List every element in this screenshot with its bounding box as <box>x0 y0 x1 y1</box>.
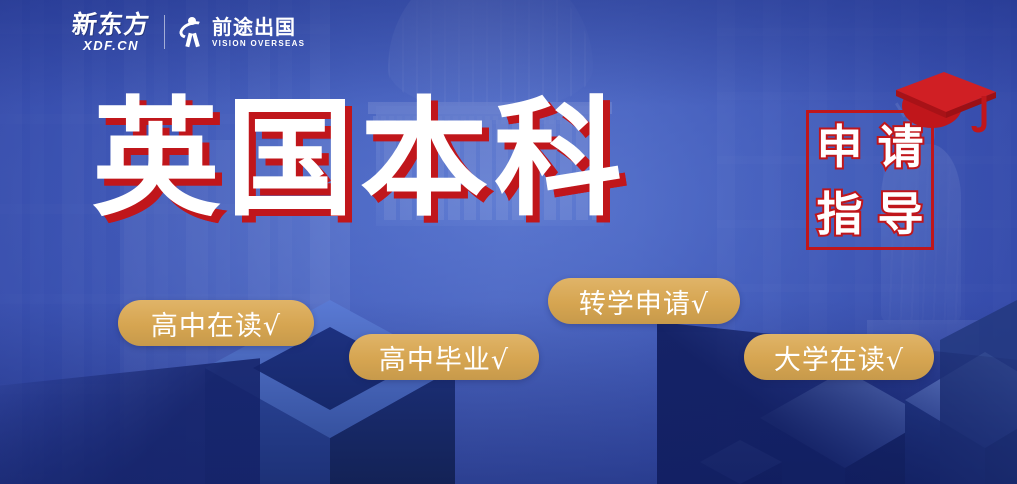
banner-root: 新东方 XDF.CN 前途出国 VISION OVERSEAS 英国本科 <box>0 0 1017 484</box>
xdf-logo-en: XDF.CN <box>83 39 139 52</box>
tag-pill-high-school-graduate[interactable]: 高中毕业√ <box>349 334 539 380</box>
main-title: 英国本科 <box>92 96 628 224</box>
vision-overseas-figure-icon <box>179 17 205 47</box>
xdf-logo[interactable]: 新东方 XDF.CN <box>72 12 150 52</box>
tag-pill-transfer-application[interactable]: 转学申请√ <box>548 278 740 324</box>
badge-char-2: 指 <box>817 191 863 237</box>
tag-pill-high-school-enrolled[interactable]: 高中在读√ <box>118 300 314 346</box>
logo-separator <box>164 15 165 49</box>
vision-overseas-cn: 前途出国 <box>212 17 305 37</box>
vision-overseas-en: VISION OVERSEAS <box>212 40 305 48</box>
badge-char-0: 申 <box>817 124 863 170</box>
xdf-logo-cn: 新东方 <box>71 12 152 37</box>
graduation-cap-icon <box>888 72 998 136</box>
logo-lockup: 新东方 XDF.CN 前途出国 VISION OVERSEAS <box>72 12 305 52</box>
tag-pill-university-enrolled[interactable]: 大学在读√ <box>744 334 934 380</box>
badge-char-3: 导 <box>878 191 924 237</box>
vision-overseas-logo[interactable]: 前途出国 VISION OVERSEAS <box>179 17 305 48</box>
